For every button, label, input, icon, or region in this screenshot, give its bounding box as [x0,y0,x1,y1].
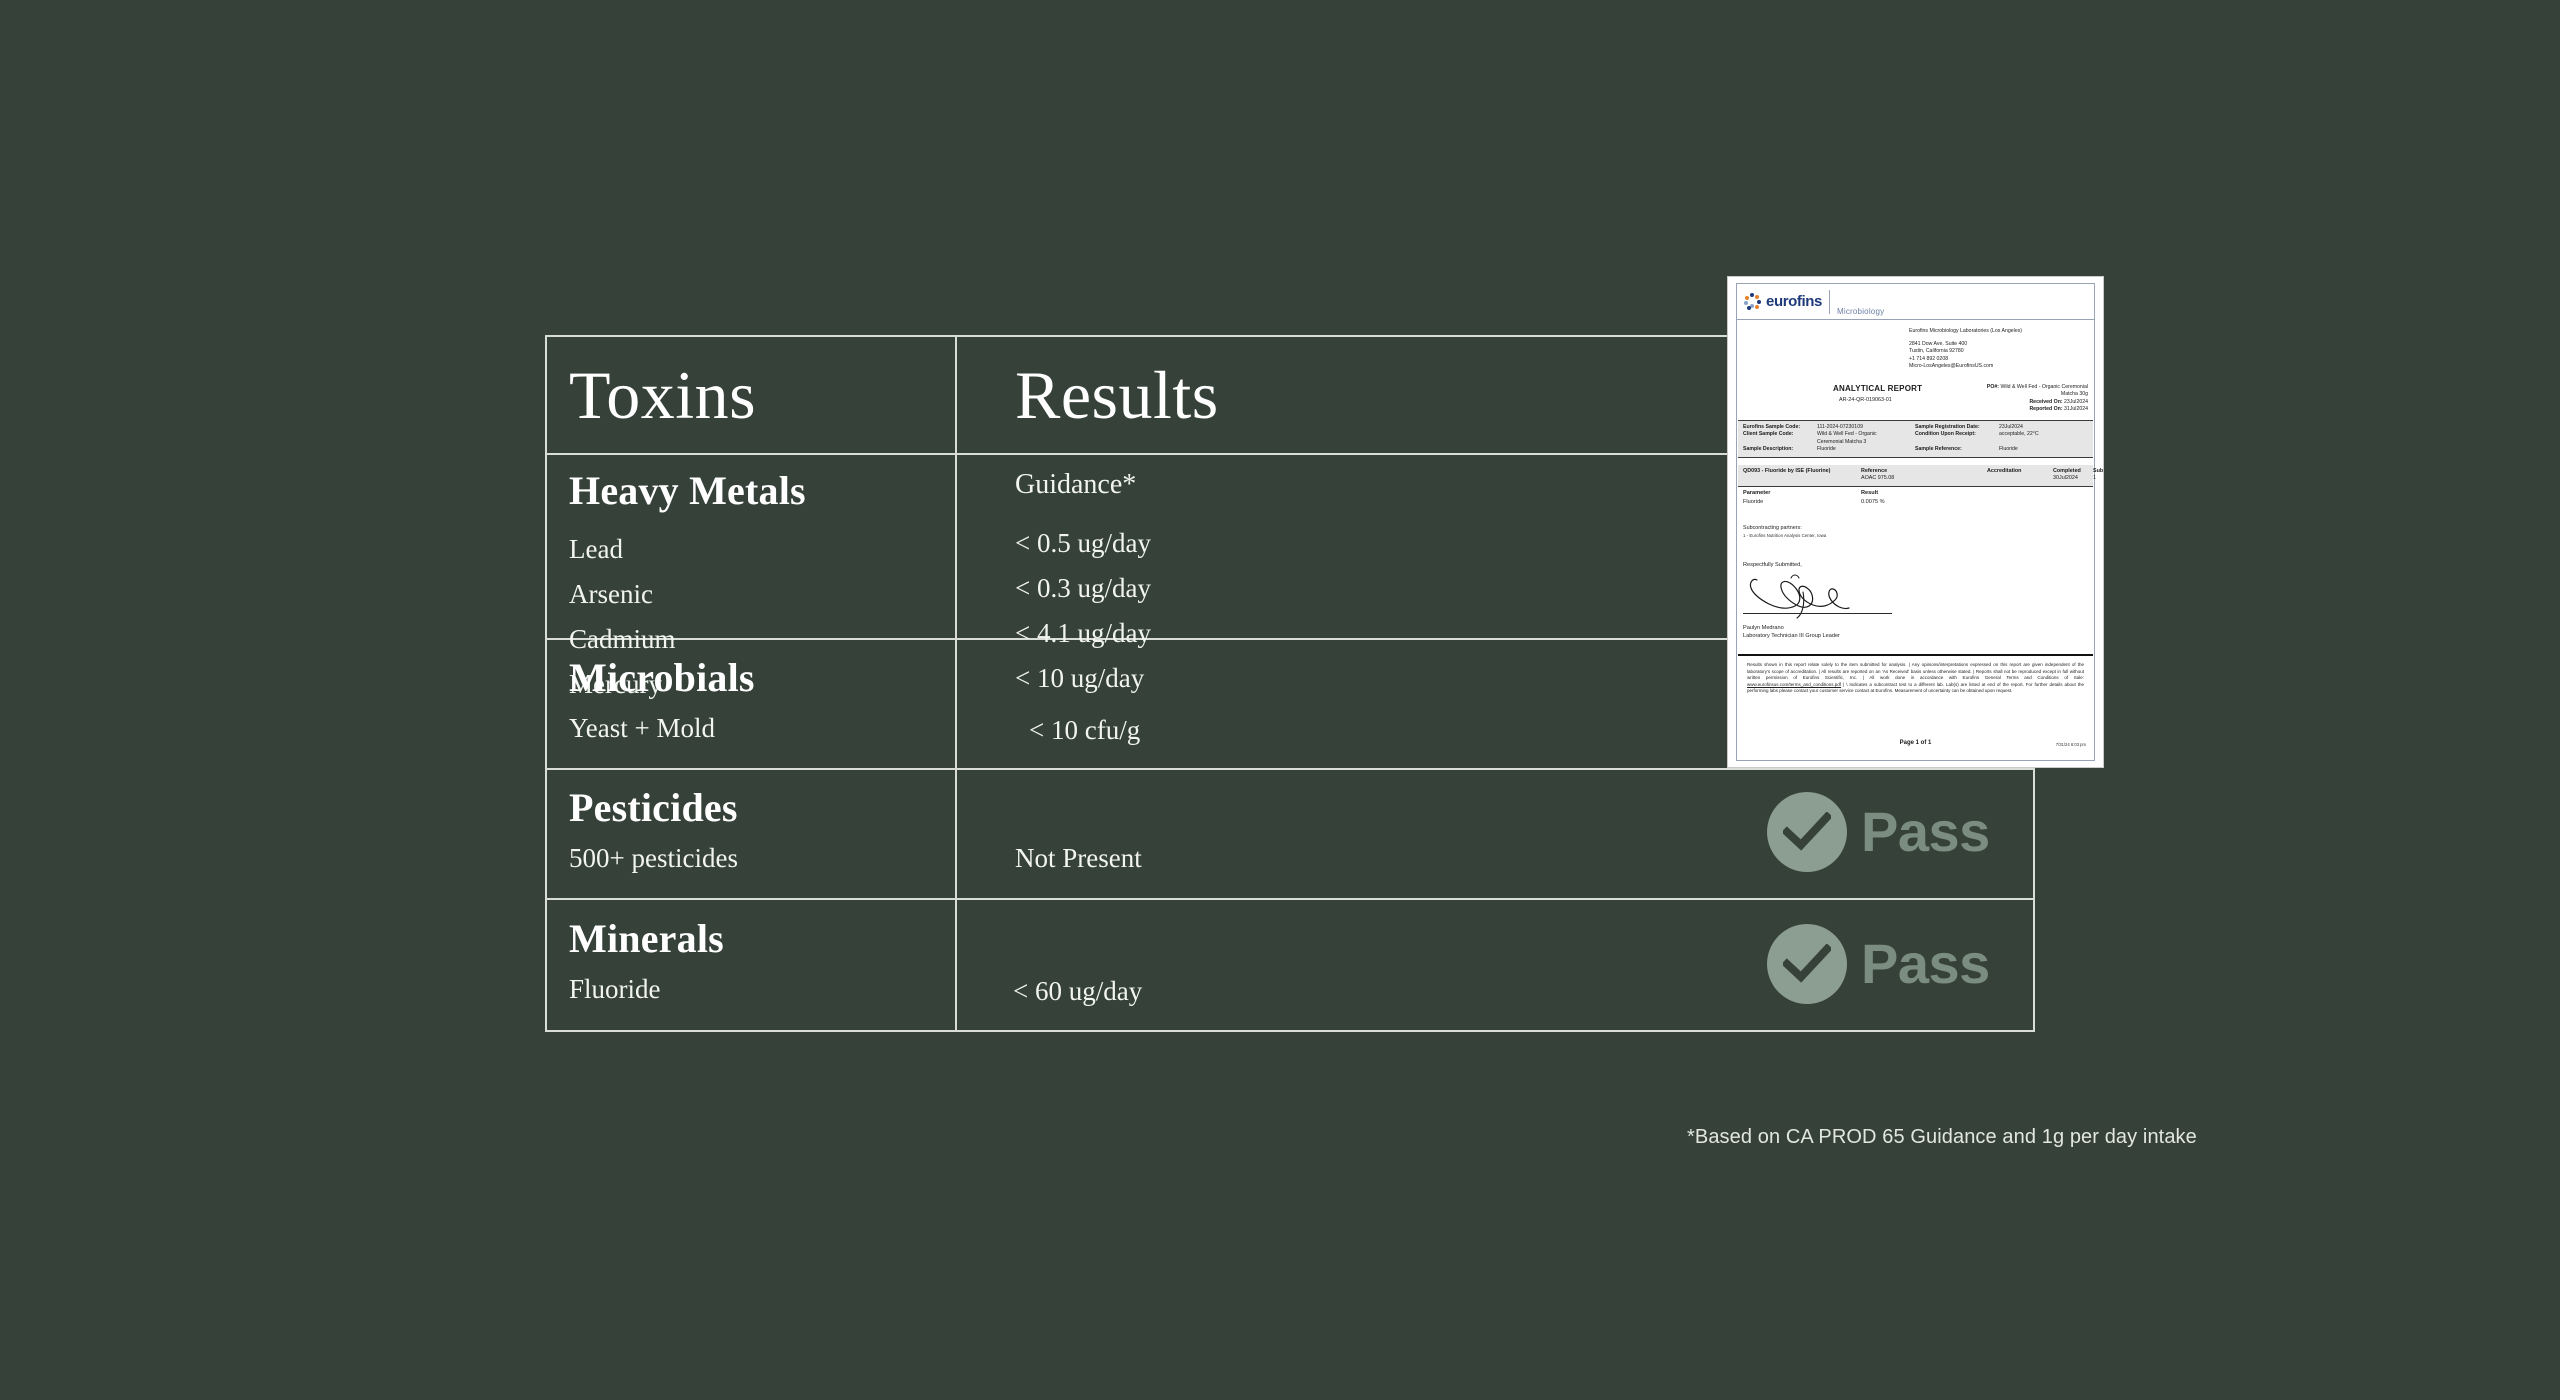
footnote-text: *Based on CA PROD 65 Guidance and 1g per… [1687,1126,2197,1149]
signer-title: Laboratory Technician III Group Leader [1743,632,1840,640]
check-circle-icon [1767,792,1847,872]
meta-row: Eurofins Sample Code: 111-2024-07230109 … [1743,424,2088,431]
lab-city: Tustin, California 92780 [1909,348,2022,356]
section-title: Pesticides [569,788,955,828]
meta-row: Client Sample Code: Wild & Well Fed - Or… [1743,431,2088,438]
brand-subtitle: Microbiology [1837,307,1884,319]
results-cell-minerals: < 60 ug/day Pass [957,900,2033,1030]
legal-divider [1738,654,2093,656]
meta-value: 111-2024-07230109 [1817,424,1915,431]
signer-name: Paulyn Medrano [1743,624,1840,632]
parameter-results-table: Parameter Result Fluoride 0.0075 % [1743,489,1885,507]
lab-address-block: Eurofins Microbiology Laboratories (Los … [1909,328,2022,371]
analyte-label: Arsenic [569,572,955,617]
column-header-results: Results [1015,361,1219,429]
status-badge-label: Pass [1861,804,1990,860]
check-circle-icon [1767,924,1847,1004]
eurofins-logo: eurofins [1744,293,1822,310]
meta-key-2: Sample Registration Date: [1915,424,1999,431]
status-badge-label: Pass [1861,936,1990,992]
result-value: < 10 cfu/g [1029,708,1140,753]
po-block: PO#: Wild & Well Fed - Organic Ceremonia… [1923,384,2088,414]
po-value-2: Matcha 30g [1923,391,2088,398]
lab-name: Eurofins Microbiology Laboratories (Los … [1909,328,2022,336]
brand-name: eurofins [1766,294,1822,309]
po-value: Wild & Well Fed - Organic Ceremonial [2000,384,2088,390]
meta-key-2 [1915,439,1999,446]
section-title: Minerals [569,919,955,959]
completed-col: Completed 30Jul2024 [2053,468,2093,483]
lab-report-document: eurofins Microbiology Eurofins Microbiol… [1727,276,2104,768]
meta-key-2: Condition Upon Receipt: [1915,431,1999,438]
meta-value-2: acceptable, 22°C [1999,431,2088,438]
received-label: Received On: [2029,399,2062,405]
report-title: ANALYTICAL REPORT [1833,384,1922,393]
print-timestamp: 7/31/24 6:03 pm [2056,742,2086,747]
toxin-cell-microbials: Microbials Yeast + Mold [547,640,957,768]
parameter-row: Fluoride 0.0075 % [1743,498,1885,507]
meta-key: Sample Description: [1743,446,1817,453]
reported-label: Reported On: [2029,406,2062,412]
signature-line [1743,613,1892,614]
received-value: 23Jul2024 [2064,399,2088,405]
section-title: Microbials [569,658,955,698]
sub-label: Sub [2093,468,2103,474]
lab-phone: +1 714 892 0208 [1909,356,2022,364]
reported-value: 31Jul2024 [2064,406,2088,412]
meta-key: Client Sample Code: [1743,431,1817,438]
subcontracting-block: Subcontracting partners: 1 - Eurofins Nu… [1743,524,1826,540]
legal-link[interactable]: www.eurofinsus.com/terms_and_conditions.… [1747,682,1841,687]
column-header-toxins: Toxins [569,361,756,429]
completed-value: 30Jul2024 [2053,475,2078,481]
analyte-label: Lead [569,527,955,572]
meta-value-2: 23Jul2024 [1999,424,2088,431]
table-row-minerals: Minerals Fluoride < 60 ug/day Pass [547,900,2033,1030]
section-title: Heavy Metals [569,471,955,511]
meta-value-2: Fluoride [1999,446,2088,453]
page-number: Page 1 of 1 [1737,740,2094,746]
meta-key: Eurofins Sample Code: [1743,424,1817,431]
lab-email: Micro-LosAngeles@EurofinsUS.com [1909,363,2022,371]
analyte-label: 500+ pesticides [569,836,955,881]
sample-meta-band: Eurofins Sample Code: 111-2024-07230109 … [1738,420,2093,458]
lab-report-header: eurofins Microbiology [1737,284,2094,320]
signer-block: Paulyn Medrano Laboratory Technician III… [1743,624,1840,640]
sub-value: 1 [2093,475,2096,481]
completed-label: Completed [2053,468,2081,474]
legal-body: Results shown in this report relate sole… [1747,662,2084,680]
lab-report-frame: eurofins Microbiology Eurofins Microbiol… [1736,283,2095,761]
reference-value: AOAC 975.08 [1861,475,1894,481]
meta-key-2: Sample Reference: [1915,446,1999,453]
accreditation-col: Accreditation [1987,468,2053,483]
meta-value-2 [1999,439,2088,446]
method-name: QD093 - Fluoride by ISE (Fluorine) [1743,468,1861,483]
parameter-value: 0.0075 % [1861,498,1885,507]
reference-label: Reference [1861,468,1887,474]
logo-divider [1829,290,1830,314]
meta-key [1743,439,1817,446]
method-reference: Reference AOAC 975.08 [1861,468,1987,483]
table-row-pesticides: Pesticides 500+ pesticides Not Present P… [547,770,2033,900]
po-label: PO#: [1987,384,1999,390]
meta-value: Wild & Well Fed - Organic [1817,431,1915,438]
status-badge: Pass [1767,924,1990,1004]
result-value: Not Present [1015,836,1142,881]
results-cell-pesticides: Not Present Pass [957,770,2033,898]
status-badge: Pass [1767,792,1990,872]
header-cell-toxins: Toxins [547,337,957,453]
parameter-name: Fluoride [1743,498,1861,507]
meta-value: Fluoride [1817,446,1915,453]
subcontracting-title: Subcontracting partners: [1743,524,1826,532]
signature-area [1743,572,1893,620]
toxin-cell-pesticides: Pesticides 500+ pesticides [547,770,957,898]
method-band: QD093 - Fluoride by ISE (Fluorine) Refer… [1738,465,2093,487]
result-value: < 60 ug/day [1013,969,1142,1014]
result-header: Result [1861,489,1878,498]
parameter-header: Parameter [1743,489,1861,498]
eurofins-dots-icon [1744,293,1761,310]
analyte-label: Fluoride [569,967,955,1012]
parameter-header-row: Parameter Result [1743,489,1885,498]
report-number: AR-24-QR-019063-01 [1839,397,1892,403]
lab-street: 2841 Dow Ave. Suite 400 [1909,341,2022,349]
accreditation-label: Accreditation [1987,468,2021,474]
subcontracting-line: 1 - Eurofins Nutrition Analysis Center, … [1743,532,1826,540]
toxin-cell-heavy-metals: Heavy Metals Lead Arsenic Cadmium Mercur… [547,455,957,638]
meta-row: Sample Description: Fluoride Sample Refe… [1743,446,2088,453]
sub-col: Sub 1 [2093,468,2103,483]
legal-disclaimer: Results shown in this report relate sole… [1747,662,2084,695]
meta-row: Ceremonial Matcha 3 [1743,439,2088,446]
meta-value: Ceremonial Matcha 3 [1817,439,1915,446]
toxin-cell-minerals: Minerals Fluoride [547,900,957,1030]
analyte-label: Yeast + Mold [569,706,955,751]
respectfully-submitted: Respectfully Submitted, [1743,562,1802,568]
